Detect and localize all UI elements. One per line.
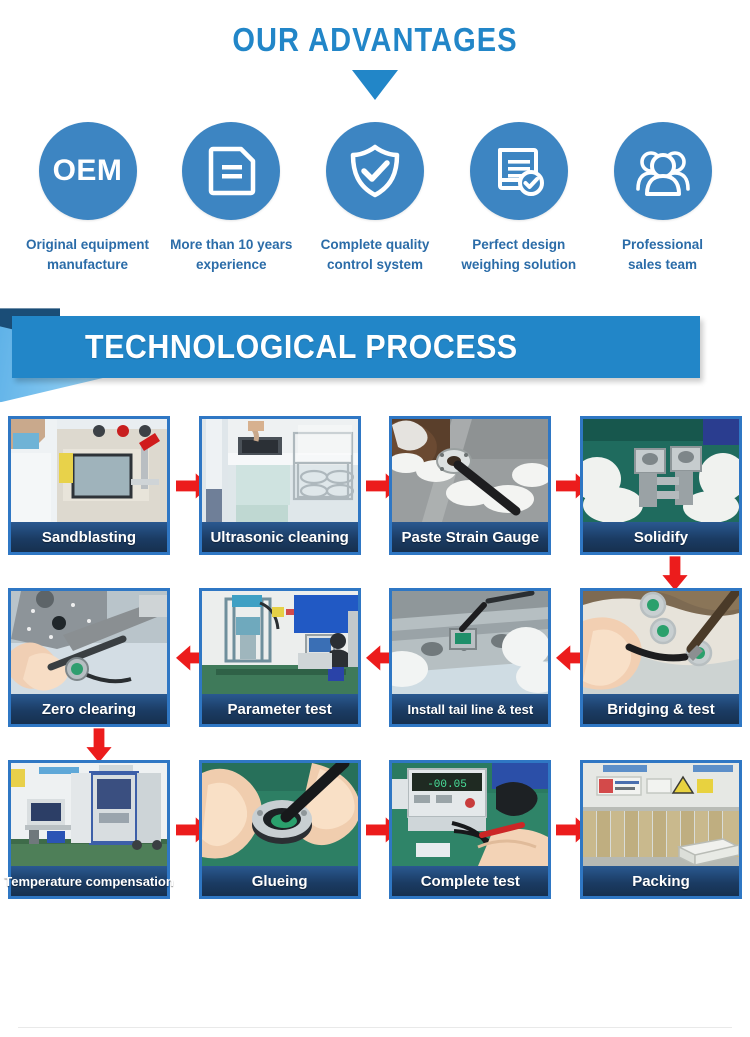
process-photo-parameter-test <box>202 591 358 694</box>
process-card-label: Zero clearing <box>11 694 167 724</box>
process-photo-temperature-compensation <box>11 763 167 866</box>
advantage-label-line1: Professional <box>622 237 703 252</box>
process-card[interactable]: Solidify <box>580 416 742 555</box>
process-row-3: Temperature compensation <box>8 760 742 899</box>
process-card[interactable]: Parameter test <box>199 588 361 727</box>
advantage-label: Professional sales team <box>622 235 703 274</box>
arrow-down-icon <box>660 556 690 590</box>
process-card-label: Complete test <box>392 866 548 896</box>
advantage-icon-badge <box>326 122 424 220</box>
oem-text-icon: OEM <box>53 154 123 188</box>
process-card-label: Install tail line & test <box>392 694 548 724</box>
advantage-label: Perfect design weighing solution <box>461 235 576 274</box>
process-photo-zero-clearing <box>11 591 167 694</box>
svg-text:-00.05: -00.05 <box>428 779 468 791</box>
advantage-label-line1: Original equipment <box>26 237 149 252</box>
process-card-label: Packing <box>583 866 739 896</box>
advantage-item-oem: OEM Original equipment manufacture <box>18 122 157 274</box>
advantage-item-experience: More than 10 years experience <box>162 122 301 274</box>
process-row-2: Zero clearing <box>8 588 742 727</box>
process-card[interactable]: Sandblasting <box>8 416 170 555</box>
process-card-label: Paste Strain Gauge <box>392 522 548 552</box>
process-card[interactable]: Glueing <box>199 760 361 899</box>
process-card-label: Sandblasting <box>11 522 167 552</box>
process-card[interactable]: Ultrasonic cleaning <box>199 416 361 555</box>
process-card-label: Glueing <box>202 866 358 896</box>
advantage-label-line2: control system <box>327 257 423 272</box>
process-card[interactable]: Bridging & test <box>580 588 742 727</box>
advantage-label: Complete quality control system <box>321 235 430 274</box>
process-photo-paste-strain-gauge <box>392 419 548 522</box>
process-card-label: Bridging & test <box>583 694 739 724</box>
process-photo-complete-test: -00.05 <box>392 763 548 866</box>
shield-check-icon <box>346 142 404 200</box>
advantage-item-sales: Professional sales team <box>593 122 732 274</box>
process-card[interactable]: Temperature compensation <box>8 760 170 899</box>
advantage-icon-badge <box>470 122 568 220</box>
technological-process-banner: TECHNOLOGICAL PROCESS <box>0 304 750 416</box>
arrow-down-icon <box>84 728 114 762</box>
process-card-label: Temperature compensation <box>11 866 167 896</box>
advantages-row: OEM Original equipment manufacture More … <box>0 100 750 274</box>
page-header: OUR ADVANTAGES <box>0 22 750 100</box>
process-card[interactable]: -00.05 Complete test <box>389 760 551 899</box>
document-approved-icon <box>490 142 548 200</box>
process-photo-bridging-test <box>583 591 739 694</box>
triangle-down-icon <box>352 70 398 100</box>
process-card[interactable]: Install tail line & test <box>389 588 551 727</box>
document-lines-icon <box>203 143 259 199</box>
process-row-1: Sandblasting <box>8 416 742 555</box>
advantage-icon-badge: OEM <box>39 122 137 220</box>
page-title: OUR ADVANTAGES <box>45 22 705 58</box>
people-group-icon <box>633 142 693 200</box>
process-card-label: Solidify <box>583 522 739 552</box>
process-card[interactable]: Paste Strain Gauge <box>389 416 551 555</box>
process-photo-packing <box>583 763 739 866</box>
advantage-label-line1: More than 10 years <box>170 237 292 252</box>
process-photo-ultrasonic-cleaning <box>202 419 358 522</box>
footer-divider <box>18 1027 732 1028</box>
advantage-label-line1: Complete quality <box>321 237 430 252</box>
process-photo-install-tail-line <box>392 591 548 694</box>
process-photo-solidify <box>583 419 739 522</box>
advantage-label-line2: experience <box>196 257 267 272</box>
banner-title: TECHNOLOGICAL PROCESS <box>85 316 518 378</box>
advantage-label: More than 10 years experience <box>170 235 292 274</box>
advantage-label-line1: Perfect design <box>472 237 565 252</box>
advantage-label-line2: sales team <box>628 257 697 272</box>
advantage-label: Original equipment manufacture <box>26 235 149 274</box>
process-card-label: Ultrasonic cleaning <box>202 522 358 552</box>
advantage-icon-badge <box>614 122 712 220</box>
process-photo-sandblasting <box>11 419 167 522</box>
advantage-icon-badge <box>182 122 280 220</box>
advantage-item-quality: Complete quality control system <box>306 122 445 274</box>
process-card-label: Parameter test <box>202 694 358 724</box>
process-grid: Sandblasting <box>0 416 750 899</box>
process-card[interactable]: Zero clearing <box>8 588 170 727</box>
process-card[interactable]: Packing <box>580 760 742 899</box>
advantage-label-line2: manufacture <box>47 257 128 272</box>
advantage-label-line2: weighing solution <box>461 257 576 272</box>
advantage-item-design: Perfect design weighing solution <box>449 122 588 274</box>
process-photo-glueing <box>202 763 358 866</box>
